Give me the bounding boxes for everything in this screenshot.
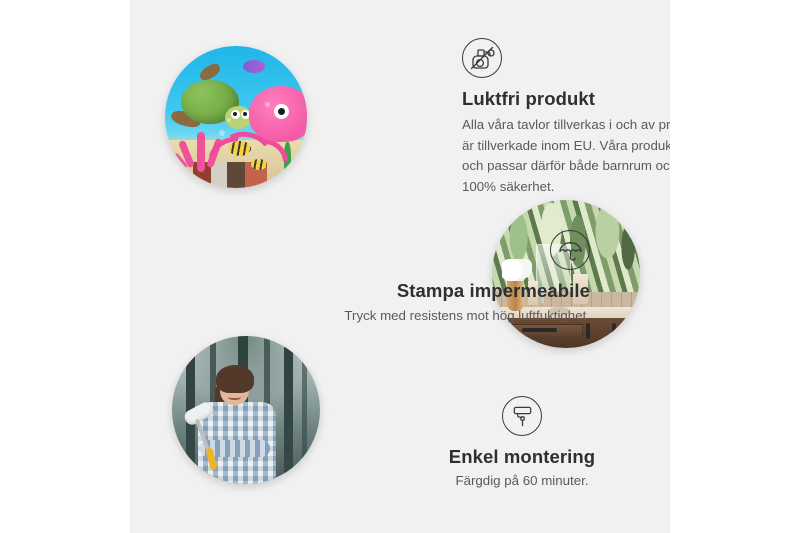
promo-banner: Luktfri produkt Alla våra tavlor tillver… (0, 0, 800, 533)
woman-hair (216, 365, 254, 393)
feature-title: Luktfri produkt (462, 87, 670, 110)
content-panel: Luktfri produkt Alla våra tavlor tillver… (130, 0, 670, 533)
umbrella-icon (550, 230, 590, 270)
purple-fish (243, 60, 265, 73)
cabinet-handle (612, 323, 616, 340)
icon-row (402, 396, 642, 436)
icon-row (300, 230, 590, 270)
striped-fish-small (251, 159, 267, 170)
woman-with-paint-roller-photo (172, 336, 320, 484)
bubble (227, 118, 231, 122)
feature-description: Tryck med resistens mot hög luftfuktighe… (300, 306, 590, 327)
feature-odorless: Luktfri produkt Alla våra tavlor tillver… (462, 38, 670, 198)
striped-fish (229, 141, 251, 156)
turtle-eye-left (231, 110, 240, 119)
woman-smile (228, 393, 241, 400)
no-odor-perfume-icon (462, 38, 502, 78)
paint-roller-icon (502, 396, 542, 436)
feature-title: Enkel montering (402, 445, 642, 468)
octopus-eye (274, 104, 289, 119)
feature-description: Färgdig på 60 minuter. (402, 471, 642, 492)
feature-description: Alla våra tavlor tillverkas i och av pro… (462, 115, 670, 197)
drawer-handle (522, 328, 558, 332)
feature-waterproof: Stampa impermeabile Tryck med resistens … (300, 230, 590, 327)
feature-easy-install: Enkel montering Färgdig på 60 minuter. (402, 396, 642, 492)
underwater-cartoon-mural-photo (165, 46, 307, 188)
bubble (219, 130, 225, 136)
feature-title: Stampa impermeabile (300, 279, 590, 302)
bubble (265, 102, 270, 107)
